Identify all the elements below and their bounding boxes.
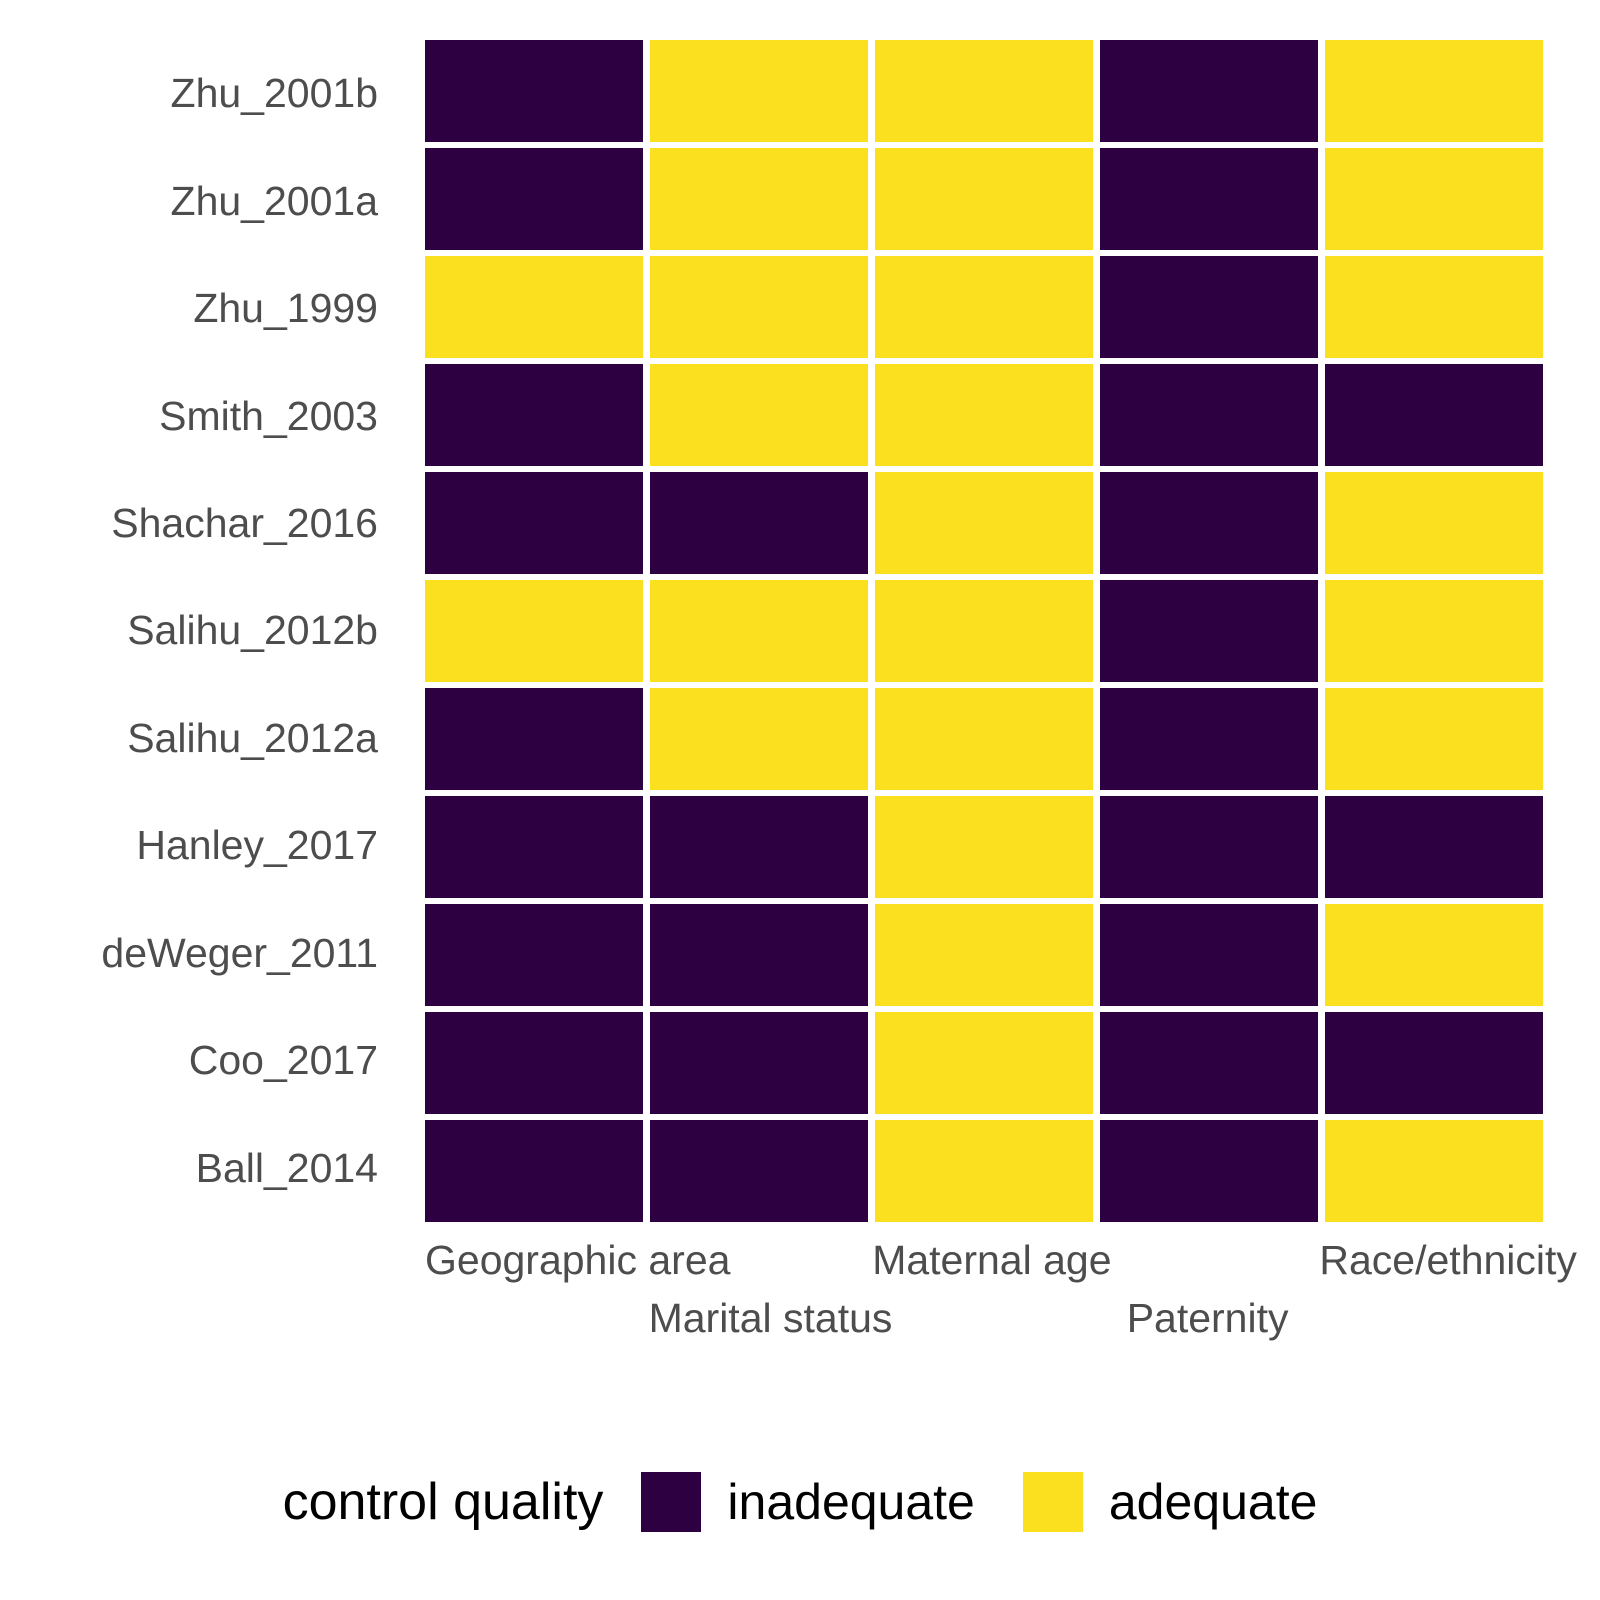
y-axis-tick-label: deWeger_2011	[0, 900, 400, 1007]
heatmap-cell[interactable]	[1100, 1120, 1318, 1222]
heatmap-row	[425, 1120, 1543, 1222]
heatmap-cell[interactable]	[650, 256, 868, 358]
heatmap-cell[interactable]	[875, 1012, 1093, 1114]
x-axis-tick-text: Paternity	[1096, 1298, 1320, 1339]
y-axis-tick-label: Smith_2003	[0, 362, 400, 469]
heatmap-cell[interactable]	[1100, 40, 1318, 142]
x-axis-tick-text: Race/ethnicity	[1319, 1240, 1543, 1281]
y-axis-tick-label: Zhu_2001a	[0, 147, 400, 254]
heatmap-row	[425, 688, 1543, 790]
y-axis-tick-label: Ball_2014	[0, 1115, 400, 1222]
heatmap-cell[interactable]	[425, 1120, 643, 1222]
x-axis-tick-label: Paternity	[1096, 1232, 1320, 1339]
y-axis-tick-label: Coo_2017	[0, 1007, 400, 1114]
heatmap-cell[interactable]	[650, 364, 868, 466]
heatmap-cell[interactable]	[1100, 904, 1318, 1006]
heatmap-cell[interactable]	[425, 148, 643, 250]
heatmap-cell[interactable]	[650, 40, 868, 142]
legend-key-inadequate[interactable]: inadequate	[641, 1472, 974, 1532]
heatmap-cell[interactable]	[875, 40, 1093, 142]
heatmap-cell[interactable]	[1100, 688, 1318, 790]
heatmap-row	[425, 472, 1543, 574]
heatmap-cell[interactable]	[875, 904, 1093, 1006]
heatmap-cell[interactable]	[1100, 580, 1318, 682]
heatmap-cell[interactable]	[1325, 40, 1543, 142]
heatmap-cell[interactable]	[1325, 904, 1543, 1006]
x-axis-tick-label: Marital status	[649, 1232, 873, 1339]
heatmap-cell[interactable]	[1100, 148, 1318, 250]
heatmap-cell[interactable]	[650, 688, 868, 790]
heatmap-cell[interactable]	[650, 580, 868, 682]
heatmap-cell[interactable]	[1100, 472, 1318, 574]
x-axis: Geographic areaMarital statusMaternal ag…	[425, 1232, 1543, 1362]
heatmap-cell[interactable]	[875, 1120, 1093, 1222]
heatmap-row	[425, 796, 1543, 898]
y-axis-tick-label: Hanley_2017	[0, 792, 400, 899]
legend: control quality inadequateadequate	[0, 1452, 1600, 1552]
heatmap-cell[interactable]	[650, 796, 868, 898]
x-axis-tick-label: Race/ethnicity	[1319, 1232, 1543, 1281]
heatmap-cell[interactable]	[425, 40, 643, 142]
x-axis-tick-label: Geographic area	[425, 1232, 649, 1281]
heatmap-cell[interactable]	[1100, 796, 1318, 898]
heatmap-cell[interactable]	[1325, 796, 1543, 898]
heatmap-row	[425, 904, 1543, 1006]
heatmap-row	[425, 148, 1543, 250]
heatmap-cell[interactable]	[1100, 364, 1318, 466]
legend-label: inadequate	[727, 1477, 974, 1527]
heatmap-cell[interactable]	[1325, 1120, 1543, 1222]
legend-swatch-adequate	[1023, 1472, 1083, 1532]
y-axis-tick-label: Salihu_2012b	[0, 577, 400, 684]
heatmap-cell[interactable]	[425, 256, 643, 358]
heatmap-figure: Zhu_2001bZhu_2001aZhu_1999Smith_2003Shac…	[0, 0, 1600, 1600]
heatmap-cell[interactable]	[1325, 256, 1543, 358]
heatmap-cell[interactable]	[650, 1012, 868, 1114]
heatmap-cell[interactable]	[875, 796, 1093, 898]
x-axis-tick-label: Maternal age	[872, 1232, 1096, 1281]
heatmap-row	[425, 256, 1543, 358]
y-axis: Zhu_2001bZhu_2001aZhu_1999Smith_2003Shac…	[0, 40, 400, 1222]
legend-label: adequate	[1109, 1477, 1318, 1527]
x-axis-tick-text: Geographic area	[425, 1240, 649, 1281]
heatmap-cell[interactable]	[650, 148, 868, 250]
heatmap-cell[interactable]	[875, 148, 1093, 250]
y-axis-tick-label: Salihu_2012a	[0, 685, 400, 792]
heatmap-cell[interactable]	[425, 472, 643, 574]
heatmap-cell[interactable]	[1100, 1012, 1318, 1114]
heatmap-row	[425, 364, 1543, 466]
heatmap-row	[425, 1012, 1543, 1114]
y-axis-tick-label: Zhu_1999	[0, 255, 400, 362]
heatmap-cell[interactable]	[1325, 688, 1543, 790]
heatmap-cell[interactable]	[875, 580, 1093, 682]
legend-key-adequate[interactable]: adequate	[1023, 1472, 1318, 1532]
heatmap-panel	[425, 40, 1543, 1222]
heatmap-cell[interactable]	[1325, 1012, 1543, 1114]
heatmap-cell[interactable]	[425, 904, 643, 1006]
y-axis-tick-label: Shachar_2016	[0, 470, 400, 577]
legend-title: control quality	[283, 1476, 604, 1528]
heatmap-cell[interactable]	[425, 580, 643, 682]
heatmap-cell[interactable]	[425, 688, 643, 790]
x-axis-tick-text: Marital status	[649, 1298, 873, 1339]
y-axis-tick-label: Zhu_2001b	[0, 40, 400, 147]
heatmap-cell[interactable]	[1325, 364, 1543, 466]
heatmap-cell[interactable]	[425, 796, 643, 898]
heatmap-cell[interactable]	[875, 688, 1093, 790]
heatmap-cell[interactable]	[1325, 580, 1543, 682]
heatmap-cell[interactable]	[650, 472, 868, 574]
legend-keys: inadequateadequate	[641, 1472, 1317, 1532]
heatmap-cell[interactable]	[1325, 472, 1543, 574]
heatmap-cell[interactable]	[425, 364, 643, 466]
heatmap-row	[425, 40, 1543, 142]
legend-swatch-inadequate	[641, 1472, 701, 1532]
heatmap-cell[interactable]	[1100, 256, 1318, 358]
heatmap-row	[425, 580, 1543, 682]
heatmap-cell[interactable]	[875, 364, 1093, 466]
x-axis-tick-text: Maternal age	[872, 1240, 1096, 1281]
heatmap-cell[interactable]	[875, 256, 1093, 358]
heatmap-cell[interactable]	[650, 904, 868, 1006]
heatmap-cell[interactable]	[650, 1120, 868, 1222]
heatmap-cell[interactable]	[425, 1012, 643, 1114]
heatmap-cell[interactable]	[875, 472, 1093, 574]
heatmap-cell[interactable]	[1325, 148, 1543, 250]
